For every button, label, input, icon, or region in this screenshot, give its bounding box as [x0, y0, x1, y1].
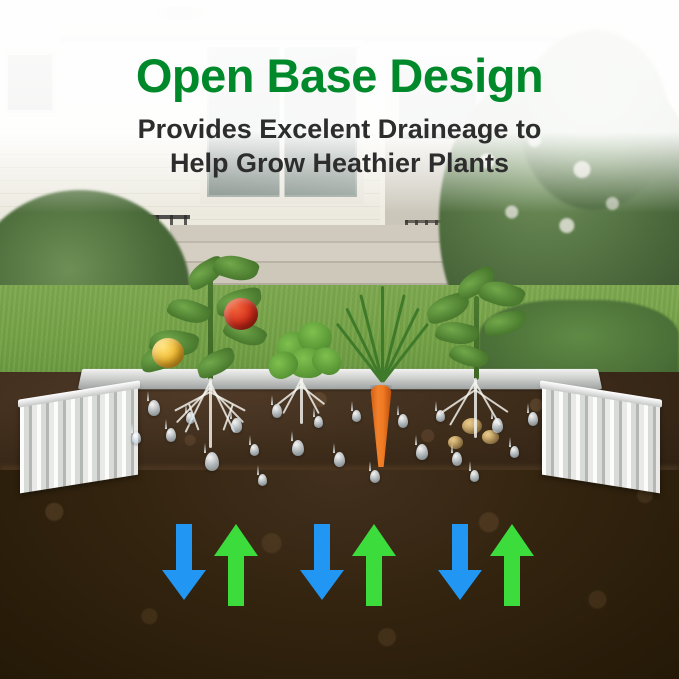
water-droplet: [205, 452, 219, 471]
water-droplet: [510, 446, 519, 458]
water-droplet: [528, 412, 538, 426]
tomato-fruit-red: [224, 298, 258, 330]
arrow-up-1: [214, 524, 260, 608]
ceiling-fan: [150, 6, 210, 20]
water-droplet: [416, 444, 428, 460]
water-droplet: [314, 416, 323, 428]
arrow-up-2: [352, 524, 398, 608]
water-droplet: [334, 452, 345, 467]
water-droplet: [292, 440, 304, 456]
water-droplet: [436, 410, 445, 422]
water-droplet: [132, 432, 141, 444]
subheadline-line-2: Help Grow Heathier Plants: [0, 146, 679, 180]
arrow-down-3: [438, 524, 484, 602]
water-droplet: [470, 470, 479, 482]
subheadline-line-1: Provides Excelent Draineage to: [0, 112, 679, 146]
water-droplet: [231, 418, 242, 433]
water-droplet: [370, 470, 380, 483]
bed-back-rail: [78, 369, 602, 389]
product-infographic: Open Base Design Provides Excelent Drain…: [0, 0, 679, 679]
water-droplet: [452, 452, 462, 466]
potato-tuber: [462, 418, 482, 434]
water-droplet: [352, 410, 361, 422]
water-droplet: [186, 412, 195, 424]
arrow-up-3: [490, 524, 536, 608]
water-droplet: [148, 400, 160, 416]
water-droplet: [250, 444, 259, 456]
arrow-down-1: [162, 524, 208, 602]
tomato-fruit-yellow: [152, 338, 184, 368]
water-droplet: [166, 428, 176, 442]
water-droplet: [258, 474, 267, 486]
water-droplet: [398, 414, 408, 428]
headline: Open Base Design: [0, 48, 679, 103]
arrow-down-2: [300, 524, 346, 602]
water-droplet: [492, 418, 503, 433]
porch-ceiling: [60, 0, 620, 42]
subheadline: Provides Excelent Draineage to Help Grow…: [0, 112, 679, 180]
water-droplet: [272, 404, 282, 418]
